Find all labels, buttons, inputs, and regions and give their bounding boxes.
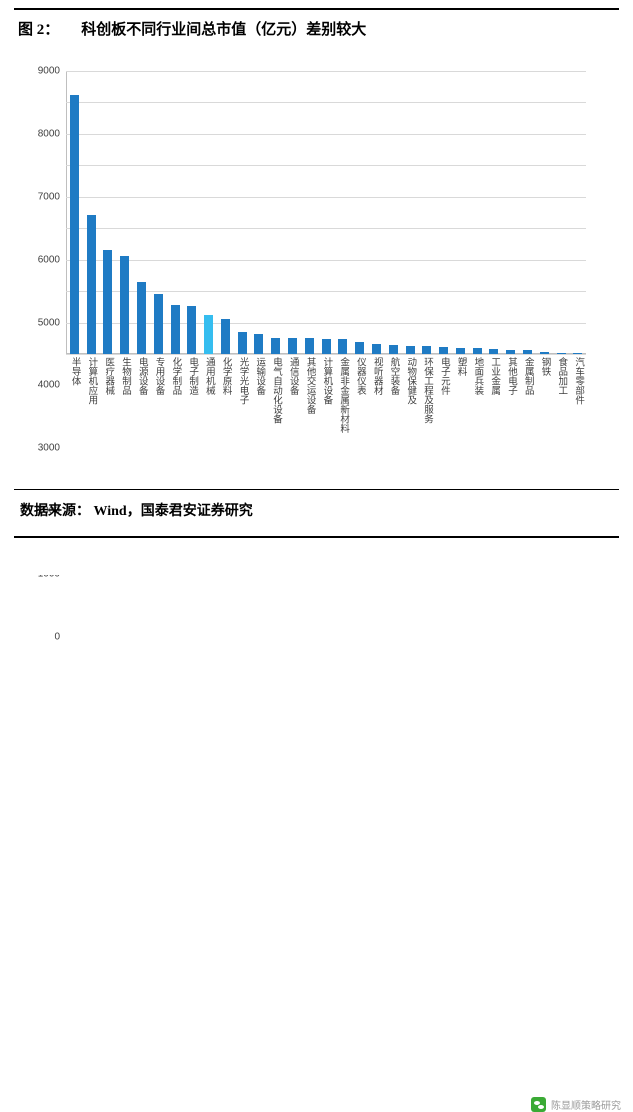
x-axis-tick-labels: 半导体计算机应用医疗器械生物制品电源设备专用设备化学制品电子制造通用机械化学原料… xyxy=(66,357,586,477)
bar-slot xyxy=(267,71,284,354)
x-label-slot: 钢铁 xyxy=(536,357,553,376)
bar-slot xyxy=(385,71,402,354)
bar-slot xyxy=(183,71,200,354)
bar xyxy=(204,315,213,354)
x-axis-tick-label: 仪器仪表 xyxy=(354,357,365,395)
bar-slot xyxy=(519,71,536,354)
x-axis-tick-label: 金属非金属新材料 xyxy=(338,357,349,433)
x-label-slot: 半导体 xyxy=(66,357,83,386)
x-axis-tick-label: 其他电子 xyxy=(505,357,516,395)
x-label-slot: 地面兵装 xyxy=(469,357,486,395)
x-axis-tick-label: 工业金属 xyxy=(489,357,500,395)
bar xyxy=(254,334,263,354)
bar xyxy=(103,250,112,354)
x-axis-tick-label: 化学原料 xyxy=(220,357,231,395)
x-axis-tick-label: 塑料 xyxy=(455,357,466,376)
x-axis-tick-label: 电气自动化设备 xyxy=(271,357,282,424)
x-label-slot: 计算机设备 xyxy=(318,357,335,405)
bar-slot xyxy=(318,71,335,354)
bar xyxy=(338,339,347,354)
top-divider xyxy=(14,8,619,10)
bar xyxy=(557,353,566,354)
bar-slot xyxy=(116,71,133,354)
bar-slot xyxy=(435,71,452,354)
bar xyxy=(221,319,230,354)
bar xyxy=(171,305,180,354)
x-label-slot: 电源设备 xyxy=(133,357,150,395)
x-label-slot: 环保工程及服务 xyxy=(418,357,435,424)
bar-slot xyxy=(301,71,318,354)
footer-bar: 陈显顺策略研究 xyxy=(0,545,633,575)
bar xyxy=(439,347,448,354)
bar xyxy=(372,344,381,354)
figure-page: 图 2： 科创板不同行业间总市值（亿元）差别较大 010002000300040… xyxy=(0,0,633,575)
x-label-slot: 其他电子 xyxy=(502,357,519,395)
gridline: 0 xyxy=(66,354,586,355)
x-label-slot: 医疗器械 xyxy=(100,357,117,395)
x-axis-tick-label: 钢铁 xyxy=(539,357,550,376)
watermark-text: 陈显顺策略研究 xyxy=(551,1097,621,1112)
bar-slot xyxy=(368,71,385,354)
bar xyxy=(523,350,532,354)
x-label-slot: 通信设备 xyxy=(284,357,301,395)
bar-slot xyxy=(100,71,117,354)
y-axis-tick-label: 5000 xyxy=(38,317,60,328)
x-label-slot: 电气自动化设备 xyxy=(267,357,284,424)
bar xyxy=(305,338,314,354)
x-axis-tick-label: 其他交运设备 xyxy=(304,357,315,414)
bar xyxy=(389,345,398,354)
x-axis-tick-label: 计算机应用 xyxy=(86,357,97,405)
bar xyxy=(187,306,196,354)
x-label-slot: 计算机应用 xyxy=(83,357,100,405)
bar-slot xyxy=(234,71,251,354)
x-label-slot: 化学制品 xyxy=(167,357,184,395)
y-axis-tick-label: 9000 xyxy=(38,66,60,77)
bar xyxy=(154,294,163,354)
bar xyxy=(456,348,465,354)
bar-slot xyxy=(553,71,570,354)
x-label-slot: 专用设备 xyxy=(150,357,167,395)
source-note: 数据来源： Wind，国泰君安证券研究 xyxy=(20,500,253,520)
x-axis-tick-label: 计算机设备 xyxy=(321,357,332,405)
bar xyxy=(70,95,79,354)
y-axis-tick-label: 6000 xyxy=(38,254,60,265)
bar xyxy=(137,282,146,354)
bar-chart: 0100020003000400050006000700080009000 半导… xyxy=(14,55,619,480)
watermark: 陈显顺策略研究 xyxy=(531,1097,621,1112)
bar-slot xyxy=(351,71,368,354)
x-label-slot: 动物保健及 xyxy=(402,357,419,405)
bar xyxy=(238,332,247,354)
bar-slot xyxy=(418,71,435,354)
x-axis-tick-label: 专用设备 xyxy=(153,357,164,395)
y-axis-tick-label: 8000 xyxy=(38,128,60,139)
bar xyxy=(406,346,415,354)
x-label-slot: 金属制品 xyxy=(519,357,536,395)
x-axis-tick-label: 通用机械 xyxy=(203,357,214,395)
bar-slot xyxy=(486,71,503,354)
x-axis-tick-label: 生物制品 xyxy=(119,357,130,395)
x-axis-tick-label: 视听器材 xyxy=(371,357,382,395)
plot-area: 0100020003000400050006000700080009000 xyxy=(66,71,586,354)
page-title: 科创板不同行业间总市值（亿元）差别较大 xyxy=(81,18,366,39)
x-label-slot: 航空装备 xyxy=(385,357,402,395)
x-label-slot: 视听器材 xyxy=(368,357,385,395)
x-axis-tick-label: 环保工程及服务 xyxy=(422,357,433,424)
y-axis-tick-label: 4000 xyxy=(38,380,60,391)
x-label-slot: 汽车零部件 xyxy=(569,357,586,405)
x-label-slot: 工业金属 xyxy=(486,357,503,395)
x-label-slot: 仪器仪表 xyxy=(351,357,368,395)
bar-slot xyxy=(402,71,419,354)
bar xyxy=(422,346,431,354)
x-axis-tick-label: 电子元件 xyxy=(438,357,449,395)
x-label-slot: 其他交运设备 xyxy=(301,357,318,414)
bar xyxy=(288,338,297,354)
x-label-slot: 运输设备 xyxy=(251,357,268,395)
wechat-icon xyxy=(531,1097,546,1112)
x-axis-tick-label: 医疗器械 xyxy=(103,357,114,395)
bar-slot xyxy=(150,71,167,354)
bar xyxy=(120,256,129,354)
x-axis-tick-label: 运输设备 xyxy=(254,357,265,395)
bar-slot xyxy=(284,71,301,354)
bar-slot xyxy=(200,71,217,354)
x-label-slot: 电子元件 xyxy=(435,357,452,395)
x-axis-tick-label: 通信设备 xyxy=(287,357,298,395)
x-axis-tick-label: 航空装备 xyxy=(388,357,399,395)
x-label-slot: 光学光电子 xyxy=(234,357,251,405)
bar-slot xyxy=(133,71,150,354)
bar xyxy=(473,348,482,354)
bar xyxy=(573,353,582,354)
x-axis-tick-label: 电子制造 xyxy=(187,357,198,395)
bottom-divider xyxy=(14,536,619,538)
bar xyxy=(322,339,331,354)
middle-divider xyxy=(14,489,619,490)
bar xyxy=(271,338,280,354)
x-axis-tick-label: 半导体 xyxy=(69,357,80,386)
x-label-slot: 电子制造 xyxy=(183,357,200,395)
y-axis-tick-label: 7000 xyxy=(38,191,60,202)
x-label-slot: 食品加工 xyxy=(553,357,570,395)
bar-slot xyxy=(83,71,100,354)
x-label-slot: 生物制品 xyxy=(116,357,133,395)
figure-title-row: 图 2： 科创板不同行业间总市值（亿元）差别较大 xyxy=(18,14,618,42)
y-axis-tick-label: 0 xyxy=(54,632,60,643)
x-axis-tick-label: 光学光电子 xyxy=(237,357,248,405)
bar-series xyxy=(66,71,586,354)
bar xyxy=(506,350,515,354)
x-label-slot: 金属非金属新材料 xyxy=(335,357,352,433)
bar-slot xyxy=(251,71,268,354)
x-label-slot: 塑料 xyxy=(452,357,469,376)
x-axis-tick-label: 食品加工 xyxy=(556,357,567,395)
bar xyxy=(489,349,498,354)
x-axis-tick-label: 金属制品 xyxy=(522,357,533,395)
bar-slot xyxy=(569,71,586,354)
bar-slot xyxy=(536,71,553,354)
bar xyxy=(540,352,549,354)
x-axis-tick-label: 动物保健及 xyxy=(405,357,416,405)
bar xyxy=(87,215,96,354)
bar-slot xyxy=(335,71,352,354)
bar-slot xyxy=(469,71,486,354)
bar-slot xyxy=(167,71,184,354)
bar-slot xyxy=(452,71,469,354)
x-label-slot: 化学原料 xyxy=(217,357,234,395)
figure-label: 图 2： xyxy=(18,18,59,39)
bar-slot xyxy=(502,71,519,354)
bar-slot xyxy=(66,71,83,354)
x-label-slot: 通用机械 xyxy=(200,357,217,395)
y-axis-tick-label: 3000 xyxy=(38,443,60,454)
x-axis-tick-label: 地面兵装 xyxy=(472,357,483,395)
x-axis-tick-label: 化学制品 xyxy=(170,357,181,395)
bar-slot xyxy=(217,71,234,354)
bar xyxy=(355,342,364,354)
x-axis-tick-label: 电源设备 xyxy=(136,357,147,395)
x-axis-tick-label: 汽车零部件 xyxy=(573,357,584,405)
